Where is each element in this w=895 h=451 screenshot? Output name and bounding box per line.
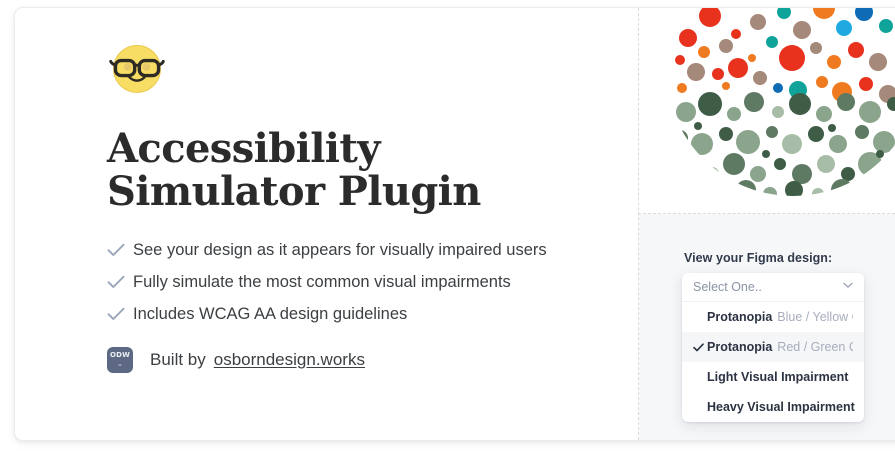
horizontal-dashed-divider: [638, 213, 895, 214]
logo-text: ODW: [107, 352, 133, 359]
feature-list: See your design as it appears for visual…: [107, 240, 627, 324]
page-title-line-1: Accessibility: [107, 128, 627, 171]
select-value: Select One..: [693, 280, 843, 294]
option-name: Light Visual Impairment: [707, 370, 848, 384]
hero-section: Accessibility Simulator Plugin See your …: [107, 38, 627, 373]
page-title: Accessibility Simulator Plugin: [107, 128, 627, 214]
check-icon: [107, 243, 133, 257]
dropdown-option-selected[interactable]: Protanopia Red / Green Colo..: [682, 332, 864, 362]
built-by-row: ODW ⌄ Built by osborndesign.works: [107, 347, 627, 373]
osborndesign-logo-icon: ODW ⌄: [107, 347, 133, 373]
option-description: Red / Green Colo..: [777, 340, 853, 354]
option-name: Heavy Visual Impairment: [707, 400, 855, 414]
nerd-face-emoji: [107, 38, 627, 100]
feature-item-label: Includes WCAG AA design guidelines: [133, 304, 407, 324]
app-screen: Accessibility Simulator Plugin See your …: [0, 0, 895, 451]
picker-label: View your Figma design:: [684, 251, 864, 265]
built-by-link[interactable]: osborndesign.works: [214, 350, 365, 370]
feature-item-label: See your design as it appears for visual…: [133, 240, 547, 260]
logo-mark: ⌄: [107, 360, 133, 368]
plugin-card: Accessibility Simulator Plugin See your …: [14, 7, 895, 441]
option-name: Protanopia: [707, 310, 772, 324]
feature-item: Fully simulate the most common visual im…: [107, 272, 627, 292]
option-name: Protanopia: [707, 340, 772, 354]
select-input[interactable]: Select One..: [682, 273, 864, 302]
option-description: Blue / Yellow Color B..: [777, 310, 853, 324]
feature-item: Includes WCAG AA design guidelines: [107, 304, 627, 324]
dropdown-option[interactable]: Light Visual Impairment: [682, 362, 864, 392]
feature-item-label: Fully simulate the most common visual im…: [133, 272, 511, 292]
dropdown-option[interactable]: Protanopia Blue / Yellow Color B..: [682, 302, 864, 332]
ishihara-color-blindness-plate: [666, 7, 895, 196]
check-icon: [107, 307, 133, 321]
built-by-label: Built by: [150, 350, 206, 370]
feature-item: See your design as it appears for visual…: [107, 240, 627, 260]
page-title-line-2: Simulator Plugin: [107, 171, 627, 214]
chevron-down-icon: [843, 282, 853, 292]
dropdown-option[interactable]: Heavy Visual Impairment: [682, 392, 864, 422]
check-icon: [693, 343, 707, 352]
figma-design-picker: View your Figma design: Select One.. Pro…: [682, 251, 864, 422]
dropdown-menu: Select One.. Protanopia Blue / Yellow Co…: [682, 273, 864, 422]
check-icon: [107, 275, 133, 289]
